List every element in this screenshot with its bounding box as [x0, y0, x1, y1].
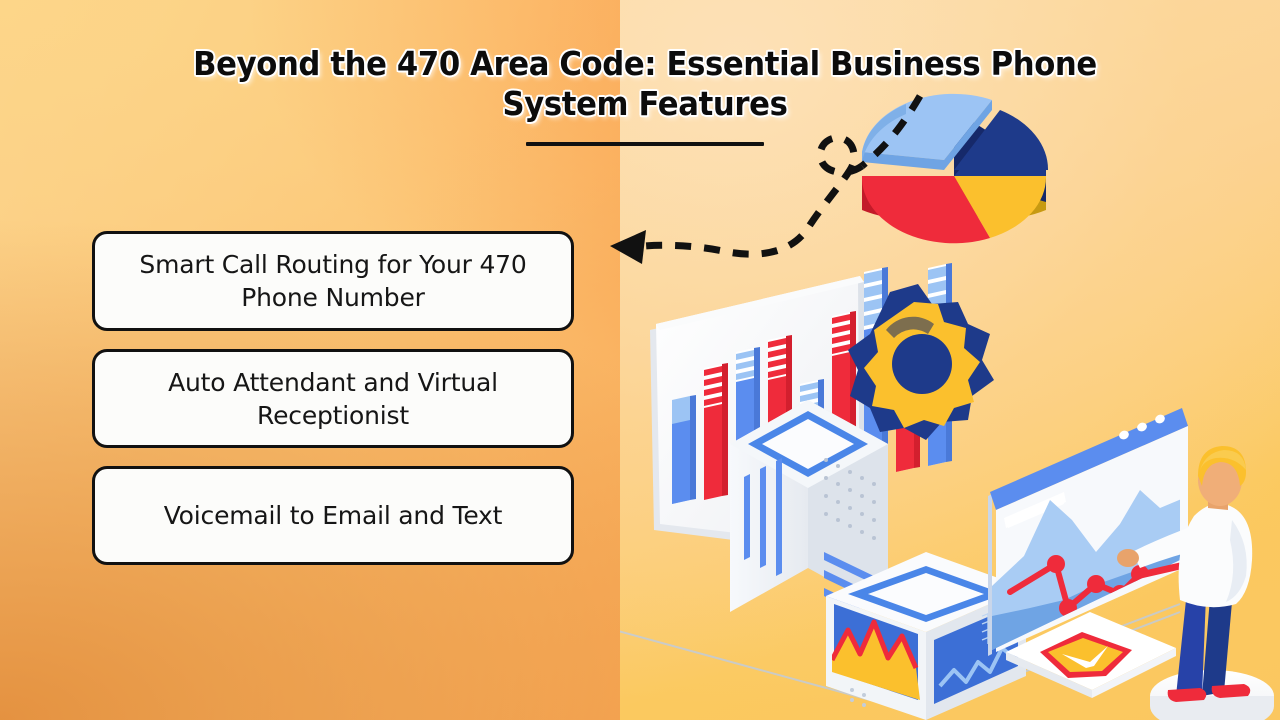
- feature-card-1-label: Smart Call Routing for Your 470 Phone Nu…: [119, 248, 547, 314]
- page-title: Beyond the 470 Area Code: Essential Busi…: [175, 44, 1114, 124]
- feature-card-2-label: Auto Attendant and Virtual Receptionist: [119, 366, 547, 432]
- poster-canvas: Beyond the 470 Area Code: Essential Busi…: [0, 0, 1280, 720]
- title-underline: [526, 142, 764, 146]
- feature-card-2[interactable]: Auto Attendant and Virtual Receptionist: [92, 349, 574, 448]
- feature-card-list: Smart Call Routing for Your 470 Phone Nu…: [92, 231, 574, 565]
- page-title-block: Beyond the 470 Area Code: Essential Busi…: [140, 44, 1150, 146]
- feature-card-3[interactable]: Voicemail to Email and Text: [92, 466, 574, 565]
- feature-card-3-label: Voicemail to Email and Text: [164, 499, 503, 532]
- feature-card-1[interactable]: Smart Call Routing for Your 470 Phone Nu…: [92, 231, 574, 331]
